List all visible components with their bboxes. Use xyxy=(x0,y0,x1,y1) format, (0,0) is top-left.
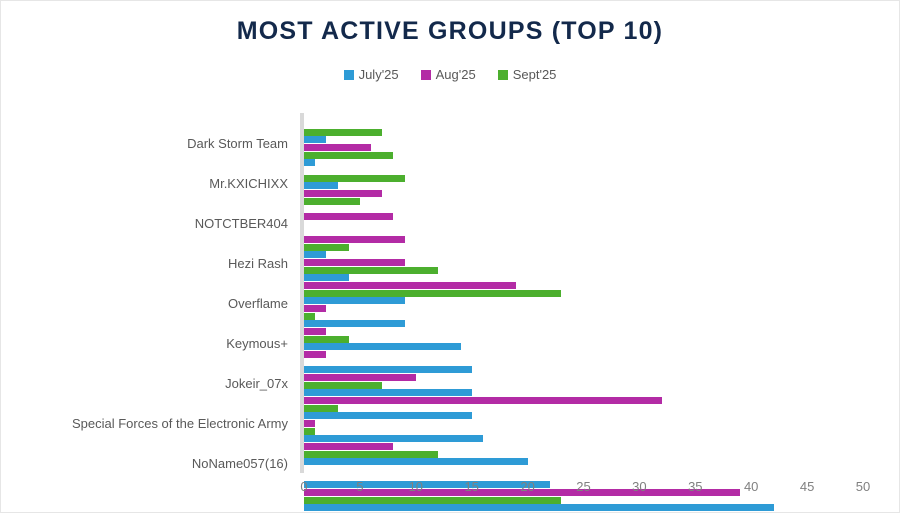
bar-group xyxy=(304,297,863,320)
chart-title: MOST ACTIVE GROUPS (TOP 10) xyxy=(1,17,899,46)
legend-swatch-icon xyxy=(344,70,354,80)
bar-group xyxy=(304,159,863,182)
category-label: NOTCTBER404 xyxy=(1,213,296,233)
legend-swatch-icon xyxy=(498,70,508,80)
y-axis-category-labels: Dark Storm TeamMr.KXICHIXXNOTCTBER404Hez… xyxy=(1,113,296,473)
bar-group xyxy=(304,435,863,458)
category-label: Jokeir_07x xyxy=(1,373,296,393)
x-axis-tick-label: 30 xyxy=(632,479,646,494)
bar-group xyxy=(304,113,863,136)
bar-sept25[interactable] xyxy=(304,198,360,205)
category-label-blank xyxy=(1,393,296,413)
category-label: Keymous+ xyxy=(1,333,296,353)
legend-item[interactable]: Sept'25 xyxy=(498,67,557,82)
x-axis-tick-label: 0 xyxy=(300,479,307,494)
bar-july25[interactable] xyxy=(304,274,349,281)
plot-area xyxy=(304,113,863,473)
bar-sept25[interactable] xyxy=(304,405,338,412)
bar-sept25[interactable] xyxy=(304,313,315,320)
category-label-blank xyxy=(1,313,296,333)
bar-july25[interactable] xyxy=(304,504,774,511)
x-axis-tick-label: 35 xyxy=(688,479,702,494)
bar-july25[interactable] xyxy=(304,366,472,373)
x-axis-tick-label: 25 xyxy=(576,479,590,494)
bar-group xyxy=(304,274,863,297)
bar-sept25[interactable] xyxy=(304,451,438,458)
category-label-blank xyxy=(1,233,296,253)
x-axis-tick-label: 40 xyxy=(744,479,758,494)
category-label-blank xyxy=(1,113,296,133)
bar-group xyxy=(304,504,863,513)
category-label: NoName057(16) xyxy=(1,453,296,473)
bar-aug25[interactable] xyxy=(304,420,315,427)
bar-aug25[interactable] xyxy=(304,282,516,289)
category-label-blank xyxy=(1,273,296,293)
bar-group xyxy=(304,320,863,343)
x-axis-tick-label: 5 xyxy=(356,479,363,494)
category-label: Hezi Rash xyxy=(1,253,296,273)
bar-july25[interactable] xyxy=(304,389,472,396)
category-label-blank xyxy=(1,433,296,453)
legend-label: July'25 xyxy=(359,67,399,82)
bar-aug25[interactable] xyxy=(304,144,371,151)
bar-july25[interactable] xyxy=(304,251,326,258)
bar-group xyxy=(304,136,863,159)
bar-sept25[interactable] xyxy=(304,175,405,182)
bar-july25[interactable] xyxy=(304,458,528,465)
bar-aug25[interactable] xyxy=(304,443,393,450)
bar-july25[interactable] xyxy=(304,412,472,419)
x-axis: 05101520253035404550 xyxy=(304,473,863,503)
x-axis-tick-label: 15 xyxy=(464,479,478,494)
x-axis-tick-label: 45 xyxy=(800,479,814,494)
category-label: Overflame xyxy=(1,293,296,313)
bar-aug25[interactable] xyxy=(304,259,405,266)
legend-swatch-icon xyxy=(421,70,431,80)
bar-aug25[interactable] xyxy=(304,190,382,197)
bar-aug25[interactable] xyxy=(304,236,405,243)
bar-sept25[interactable] xyxy=(304,428,315,435)
bar-group xyxy=(304,228,863,251)
bar-july25[interactable] xyxy=(304,297,405,304)
bar-sept25[interactable] xyxy=(304,129,382,136)
legend-item[interactable]: July'25 xyxy=(344,67,399,82)
bar-aug25[interactable] xyxy=(304,328,326,335)
x-axis-tick-label: 50 xyxy=(856,479,870,494)
bar-aug25[interactable] xyxy=(304,351,326,358)
category-label: Dark Storm Team xyxy=(1,133,296,153)
category-label: Mr.KXICHIXX xyxy=(1,173,296,193)
bar-sept25[interactable] xyxy=(304,152,393,159)
bar-aug25[interactable] xyxy=(304,374,416,381)
chart-legend: July'25Aug'25Sept'25 xyxy=(1,67,899,82)
bar-sept25[interactable] xyxy=(304,244,349,251)
legend-label: Aug'25 xyxy=(436,67,476,82)
bar-group xyxy=(304,412,863,435)
bar-group xyxy=(304,389,863,412)
bar-july25[interactable] xyxy=(304,159,315,166)
chart-page: MOST ACTIVE GROUPS (TOP 10) July'25Aug'2… xyxy=(0,0,900,513)
bar-group xyxy=(304,343,863,366)
legend-item[interactable]: Aug'25 xyxy=(421,67,476,82)
bar-sept25[interactable] xyxy=(304,290,561,297)
bar-group xyxy=(304,182,863,205)
bar-july25[interactable] xyxy=(304,182,338,189)
bar-group xyxy=(304,366,863,389)
bar-group xyxy=(304,251,863,274)
category-label: Special Forces of the Electronic Army xyxy=(1,413,296,433)
bar-aug25[interactable] xyxy=(304,397,662,404)
bar-july25[interactable] xyxy=(304,136,326,143)
category-label-blank xyxy=(1,353,296,373)
category-label-blank xyxy=(1,193,296,213)
bar-aug25[interactable] xyxy=(304,305,326,312)
category-label-blank xyxy=(1,153,296,173)
bar-group xyxy=(304,205,863,228)
bar-july25[interactable] xyxy=(304,435,483,442)
x-axis-tick-label: 20 xyxy=(520,479,534,494)
bar-july25[interactable] xyxy=(304,343,461,350)
bar-sept25[interactable] xyxy=(304,382,382,389)
x-axis-tick-label: 10 xyxy=(409,479,423,494)
bar-groups xyxy=(304,113,863,473)
bar-sept25[interactable] xyxy=(304,336,349,343)
legend-label: Sept'25 xyxy=(513,67,557,82)
bar-july25[interactable] xyxy=(304,320,405,327)
bar-sept25[interactable] xyxy=(304,267,438,274)
bar-aug25[interactable] xyxy=(304,213,393,220)
